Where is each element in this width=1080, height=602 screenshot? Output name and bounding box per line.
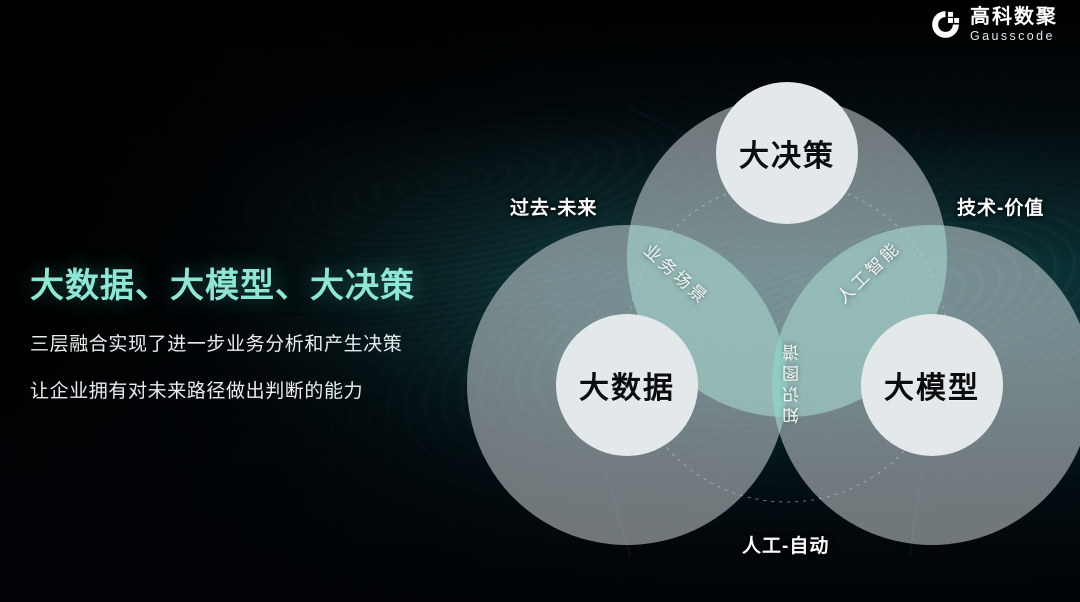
slide-canvas: 高科数聚 Gausscode 大数据、大模型、大决策 三层融合实现了进一步业务分… [0, 0, 1080, 602]
subtitle-line-2: 让企业拥有对未来路径做出判断的能力 [30, 376, 500, 403]
brand-name-cn: 高科数聚 [970, 7, 1058, 27]
venn-diagram [470, 0, 1080, 602]
axis-label-manual-auto: 人工-自动 [742, 531, 829, 558]
axis-label-tech-value: 技术-价值 [957, 193, 1044, 220]
venn-svg [470, 0, 1080, 602]
venn-label-knowledge-graph: 知识图谱 [780, 340, 805, 424]
subtitle-line-1: 三层融合实现了进一步业务分析和产生决策 [30, 329, 500, 356]
brand-logo: 高科数聚 Gausscode [930, 7, 1058, 43]
gausscode-g-mark-icon [930, 9, 961, 40]
venn-label-model: 大模型 [884, 363, 980, 407]
axis-label-past-future: 过去-未来 [510, 193, 597, 220]
brand-name-en: Gausscode [970, 30, 1058, 43]
venn-label-bigdata: 大数据 [579, 363, 675, 407]
headline-block: 大数据、大模型、大决策 三层融合实现了进一步业务分析和产生决策 让企业拥有对未来… [30, 258, 500, 403]
page-title: 大数据、大模型、大决策 [30, 258, 500, 307]
venn-label-decision: 大决策 [739, 131, 835, 175]
